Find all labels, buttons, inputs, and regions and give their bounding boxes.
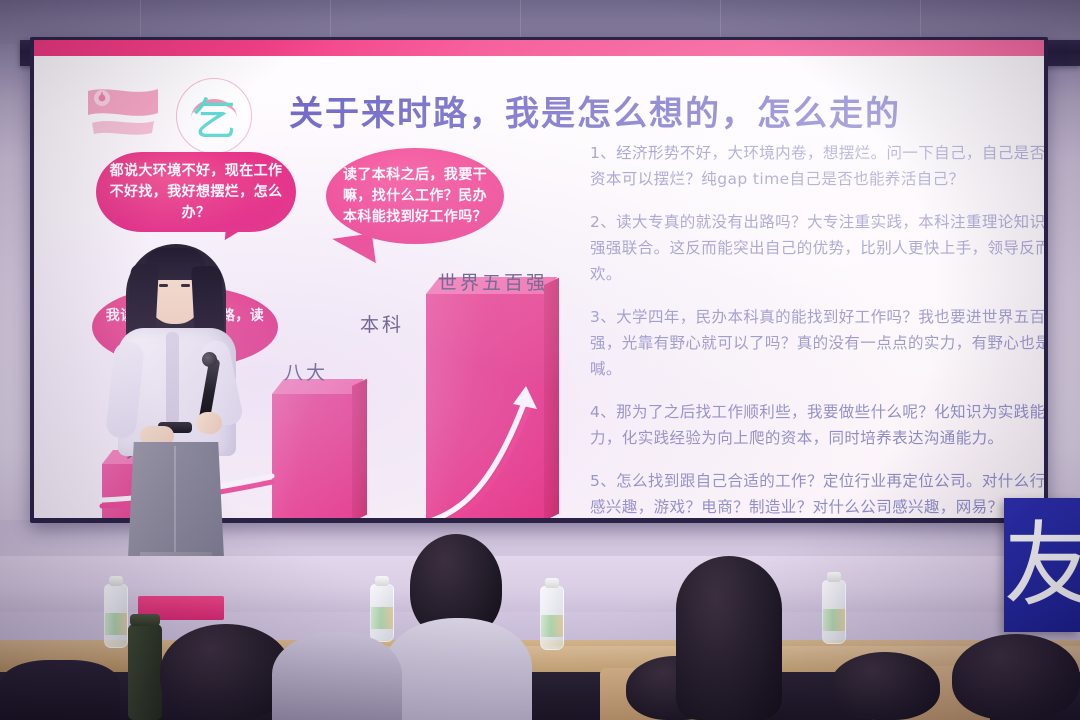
speech-bubble-2: 读了本科之后，我要干嘛，找什么工作？民办本科能找到好工作吗？ [326,148,504,244]
paragraph-3: 3、大学四年，民办本科真的能找到好工作吗？我也要进世界五百强，光靠有野心就可以了… [590,304,1044,382]
blue-sign-character: 友 [1004,502,1080,630]
audience-head [676,556,782,720]
water-bottle [822,580,846,644]
bubble-2-tail [332,233,376,268]
presenter-skirt [128,442,224,558]
audience-head [830,652,940,720]
paragraph-2: 2、读大专真的就没有出路吗？大专注重实践，本科注重理论知识，强强联合。这反而能突… [590,209,1044,287]
audience-shoulders [0,660,120,720]
slide-top-accent-bar [34,40,1044,56]
presenter [104,236,250,536]
slide-text-column: 1、经济形势不好，大环境内卷，想摆烂。问一下自己，自己是否有资本可以摆烂？纯ga… [590,140,1044,518]
presenter-skirt-seam [174,446,176,554]
paragraph-5: 5、怎么找到跟自己合适的工作？定位行业再定位公司。对什么行业感兴趣，游戏？电商？… [590,468,1044,518]
flag-emblem-icon [82,83,166,139]
audience-shoulders [272,632,402,720]
paragraph-1: 1、经济形势不好，大环境内卷，想摆烂。问一下自己，自己是否有资本可以摆烂？纯ga… [590,140,1044,192]
water-bottle [370,584,394,642]
thermos-flask [128,624,162,720]
brand-circle-logo: 乞 [176,78,252,154]
microphone-head [202,352,217,367]
water-bottle [540,586,564,650]
page-title: 关于来时路，我是怎么想的，怎么走的 [289,86,1009,135]
presenter-hand-right [196,412,222,434]
audience-head [952,634,1080,720]
blue-banner-sign: 友 [1004,498,1080,632]
audience-shoulders [384,618,532,720]
brand-glyph: 乞 [177,83,251,147]
screenshot-root: 乞 关于来时路，我是怎么想的，怎么走的 大 八大 本科 世界五百强 [0,0,1080,720]
water-bottle [104,584,128,648]
presenter-shirt-placket [166,332,179,424]
speech-bubble-1: 都说大环境不好，现在工作不好找，我好想摆烂，怎么办？ [96,152,296,232]
paragraph-4: 4、那为了之后找工作顺利些，我要做些什么呢？化知识为实践能力，化实践经验为向上爬… [590,399,1044,451]
